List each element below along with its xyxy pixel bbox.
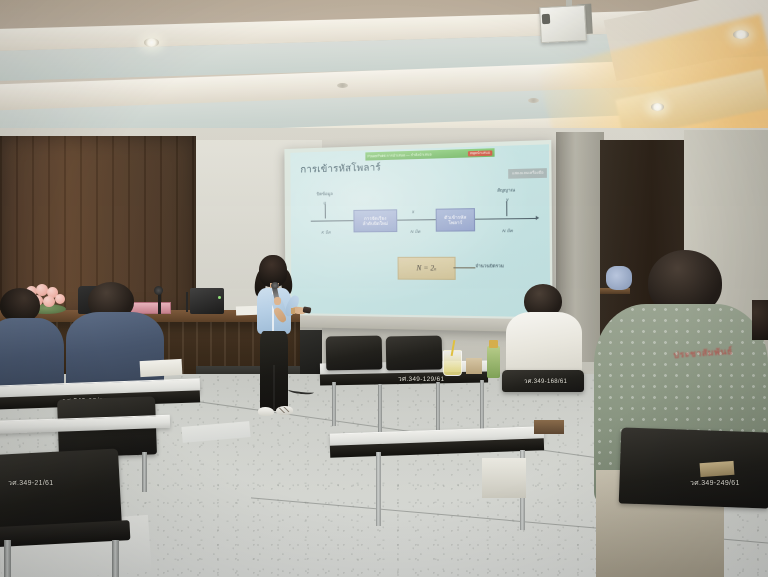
presentation-clicker[interactable]: [303, 306, 312, 313]
projection-screen: การเข้ารหัสโพลาร์ PowerPoint การนำเสนอ —…: [284, 140, 552, 332]
bottle-cap: [489, 340, 498, 348]
projector-lens-icon: [542, 14, 551, 24]
wristwatch: [291, 308, 295, 314]
flower-vase: [606, 266, 632, 290]
formula-exponent: n: [434, 266, 436, 271]
flower-petal: [55, 294, 65, 304]
formula-leader-line: [453, 267, 475, 268]
ceiling-projector: [539, 5, 587, 43]
chair-leg: [4, 540, 11, 577]
chair-back[interactable]: [326, 336, 383, 371]
ceiling-fixture: [528, 98, 539, 103]
flow-label-input: บิตข้อมูล: [305, 190, 346, 198]
slide-title: การเข้ารหัสโพลาร์: [300, 160, 381, 177]
flow-box-polar-encoder: ตัวเข้ารหัส โพลาร์: [436, 208, 476, 232]
microphone-icon: [271, 282, 279, 289]
chair-back[interactable]: [386, 336, 443, 371]
hand: [274, 297, 281, 305]
flow-tick: [506, 201, 507, 216]
microphone-icon[interactable]: [154, 286, 163, 295]
downlight-icon: [733, 30, 749, 39]
formula-expression: N = 2: [416, 264, 434, 272]
downlight-icon: [144, 38, 159, 47]
desk-leg: [376, 452, 381, 526]
stop-presenting-button[interactable]: หยุดนำเสนอ: [468, 150, 493, 156]
audience-head: [0, 288, 40, 322]
flow-box-line2: โพลาร์: [448, 220, 462, 226]
flow-box-line2: ลำดับบิตใหม่: [363, 221, 388, 227]
shoe-left: [258, 407, 274, 416]
microphone-stand: [186, 292, 188, 312]
flow-label-n-bit-2: N บิต: [491, 227, 525, 235]
chair-asset-label: วศ.349-249/61: [690, 478, 740, 489]
audience-torso: [506, 312, 582, 378]
flow-box-reorder: การจัดเรียง ลำดับบิตใหม่: [353, 209, 397, 232]
presentation-slide: การเข้ารหัสโพลาร์ PowerPoint การนำเสนอ —…: [290, 144, 550, 317]
chair-leg: [112, 540, 119, 577]
flow-axis-line: [311, 218, 536, 222]
chair-asset-label: วศ.349-168/61: [524, 376, 567, 386]
downlight-icon: [651, 103, 664, 111]
flow-label-output: สัญญาณ: [484, 186, 529, 194]
green-bottle[interactable]: [487, 346, 500, 378]
flow-arrowhead-icon: [536, 216, 539, 220]
book[interactable]: [534, 420, 564, 434]
presenting-toolbar-label: PowerPoint การนำเสนอ — กำลังนำเสนอ: [367, 151, 467, 159]
flower-petal: [43, 296, 55, 307]
chair-leg: [436, 382, 440, 430]
presenter: [243, 255, 305, 445]
chair-leg: [332, 382, 336, 426]
formula-box: N = 2n: [398, 257, 456, 280]
chair-leg: [378, 384, 382, 432]
chair-asset-label: วศ.349-21/61: [8, 478, 53, 489]
chair-leg: [480, 380, 484, 430]
ceiling: [0, 0, 768, 148]
box-item: [466, 358, 482, 374]
audience-head: [752, 300, 768, 340]
presenting-toolbar[interactable]: PowerPoint การนำเสนอ — กำลังนำเสนอ หยุดน…: [365, 148, 494, 160]
equipment-box[interactable]: [190, 288, 224, 314]
chair-leg: [142, 452, 147, 492]
microphone-stand: [158, 292, 161, 314]
toolbar-tooltip: แสดงแถบเครื่องมือ: [508, 168, 546, 179]
power-led-icon: [218, 296, 221, 299]
trouser-seam: [273, 365, 275, 411]
chair-seat[interactable]: [482, 458, 526, 498]
chair-back[interactable]: [619, 427, 768, 508]
flow-label-n-bit-1: N บิต: [399, 228, 431, 236]
flow-label-k-bit: K บิต: [311, 228, 341, 235]
paper-sheet[interactable]: [140, 359, 183, 377]
ceiling-fixture: [337, 83, 348, 88]
flow-symbol-mid: x: [406, 209, 421, 214]
shoe-pattern: [278, 407, 290, 413]
book[interactable]: [700, 461, 735, 477]
flow-tick: [325, 204, 326, 218]
lecture-hall-photo: การเข้ารหัสโพลาร์ PowerPoint การนำเสนอ —…: [0, 0, 768, 577]
formula-note: จำนวนบิตรวม: [475, 262, 504, 269]
